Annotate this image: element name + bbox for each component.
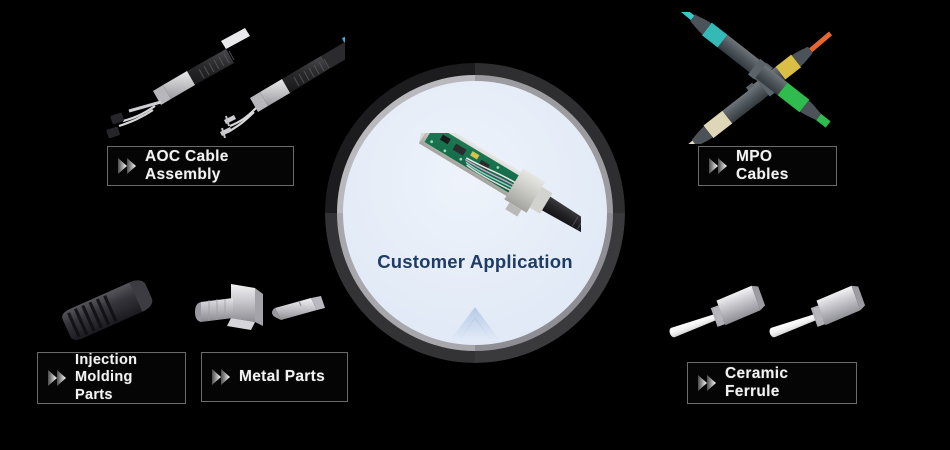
hub-ring: Customer Application [325,63,625,363]
diagram-canvas: Customer Application [0,0,950,450]
label-chip-injection-molding-parts[interactable]: Injection Molding Parts [37,352,186,404]
label-chip-text: Metal Parts [239,368,325,386]
label-chip-mpo-cables[interactable]: MPO Cables [698,146,837,186]
double-chevron-right-icon [47,368,69,388]
product-image-mpo [672,12,872,144]
double-chevron-right-icon [697,373,719,393]
product-image-injection-molding [34,268,184,348]
center-hub[interactable]: Customer Application [325,63,625,363]
label-chip-text: AOC Cable Assembly [145,148,279,185]
double-chevron-right-icon [211,367,233,387]
label-chip-aoc-cable-assembly[interactable]: AOC Cable Assembly [107,146,294,186]
product-image-customer-application [391,133,581,253]
double-chevron-right-icon [708,156,730,176]
product-image-ceramic-ferrule [663,274,868,356]
hub-disc: Customer Application [343,81,607,345]
label-chip-text: Ceramic Ferrule [725,365,842,402]
label-chip-metal-parts[interactable]: Metal Parts [201,352,348,402]
label-chip-text: Injection Molding Parts [75,352,171,403]
product-image-metal-parts [193,278,333,350]
double-chevron-right-icon [117,156,139,176]
label-chip-text: MPO Cables [736,148,822,185]
product-image-aoc [95,18,345,138]
center-label: Customer Application [343,251,607,273]
label-chip-ceramic-ferrule[interactable]: Ceramic Ferrule [687,362,857,404]
chevron-up-icon [343,303,607,343]
